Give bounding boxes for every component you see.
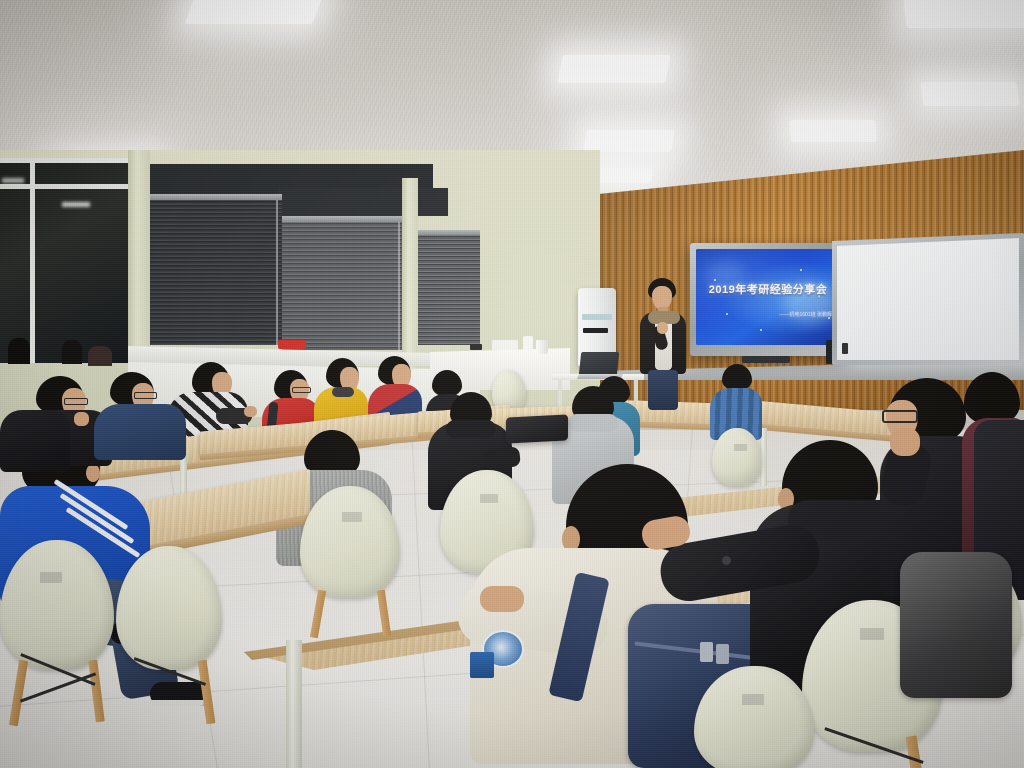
corridor-light-reflection — [62, 202, 90, 207]
sleeve-patch-text — [470, 652, 494, 678]
ceiling-light-panel — [903, 0, 1024, 28]
chair-wood-leg — [377, 590, 391, 637]
red-object-on-counter — [278, 340, 306, 349]
hair — [964, 372, 1020, 424]
hood — [568, 414, 618, 432]
counter-items — [523, 336, 533, 350]
eyeglasses — [292, 387, 311, 393]
eyeglasses — [134, 392, 157, 399]
ac-display — [583, 328, 608, 333]
chair-wire-base — [20, 672, 96, 702]
chair-label-sticker — [342, 512, 362, 522]
counter-items — [470, 344, 482, 350]
student-glasses-navy-jacket — [94, 372, 194, 458]
screen-stand — [742, 356, 790, 363]
hand — [480, 586, 524, 612]
torso — [94, 404, 186, 460]
chair-shell — [694, 666, 814, 768]
glass-partition-frame — [0, 158, 128, 363]
student-foreground-left-dark — [0, 390, 80, 470]
corridor-light-reflection — [2, 178, 24, 183]
jacket-collar — [332, 387, 354, 397]
backpack-zipper-pull — [700, 642, 713, 662]
silhouette-behind-glass — [62, 340, 82, 364]
chair-label-sticker — [742, 694, 764, 705]
transom-dark-glass — [278, 188, 448, 216]
ear — [86, 464, 100, 482]
chair-label-sticker — [40, 572, 62, 583]
blind-cord — [276, 200, 278, 350]
eames-style-chair[interactable] — [694, 666, 824, 768]
whiteboard-marker[interactable] — [842, 343, 848, 354]
projector-screen-frame: 2019年考研经验分享会 ——机电1601班 张鹏辉 — [690, 243, 846, 356]
eyeglasses — [882, 410, 918, 423]
student-blue-plaid-shirt — [710, 364, 766, 438]
chair-wood-leg — [9, 660, 28, 727]
chair-shell — [0, 540, 114, 670]
window-blind[interactable] — [418, 235, 480, 345]
silhouette-behind-glass — [88, 346, 112, 366]
window-blind[interactable] — [282, 222, 402, 350]
slide-particle — [726, 313, 728, 315]
slide-particle — [760, 329, 762, 331]
grey-backpack — [900, 552, 1012, 698]
eames-style-chair[interactable] — [116, 546, 236, 726]
ceiling-light-panel — [185, 0, 324, 24]
chair-shell — [116, 546, 222, 670]
hand — [890, 428, 920, 456]
sleeve-button — [722, 556, 731, 565]
slide-particle — [800, 269, 802, 271]
cup-on-table — [536, 340, 548, 354]
torso — [0, 410, 70, 472]
chair-wood-leg — [198, 660, 216, 725]
chair-shell — [300, 486, 400, 598]
blind-cord — [398, 222, 400, 352]
counter-items — [492, 340, 518, 350]
chair-wood-leg — [310, 590, 326, 639]
ac-vent — [582, 314, 612, 320]
whiteboard-surface[interactable] — [837, 238, 1019, 360]
slide-subtitle: ——机电1601班 张鹏辉 — [779, 311, 832, 318]
hand — [244, 406, 257, 417]
chair-wood-leg — [88, 660, 104, 723]
backpack-zipper-pull — [716, 644, 729, 664]
hair — [722, 364, 752, 390]
ceiling-light-panel — [583, 130, 674, 152]
presenter-hand — [657, 322, 668, 334]
ceiling-light-panel — [557, 55, 670, 83]
presenter-laptop[interactable] — [579, 352, 620, 376]
chair-label-sticker — [860, 628, 884, 640]
window-blind[interactable] — [150, 200, 282, 345]
projector-screen-panel[interactable]: 2019年考研经验分享会 ——机电1601班 张鹏辉 — [696, 249, 840, 345]
classroom-photo: 2019年考研经验分享会 ——机电1601班 张鹏辉 — [0, 0, 1024, 768]
eames-style-chair[interactable] — [0, 540, 130, 730]
wall-pillar — [402, 178, 418, 368]
slide-title: 2019年考研经验分享会 — [696, 281, 840, 297]
ceiling-light-panel — [921, 82, 1020, 106]
silhouette-behind-glass — [8, 338, 30, 364]
whiteboard[interactable] — [832, 233, 1024, 365]
table-leg — [286, 640, 302, 768]
eames-style-chair[interactable] — [300, 486, 408, 636]
hood — [446, 420, 496, 438]
black-laptop-bag — [506, 414, 568, 443]
presenter-jeans — [648, 370, 678, 410]
presentation-slide: 2019年考研经验分享会 ——机电1601班 张鹏辉 — [696, 249, 840, 345]
ceiling-light-panel — [789, 120, 877, 142]
